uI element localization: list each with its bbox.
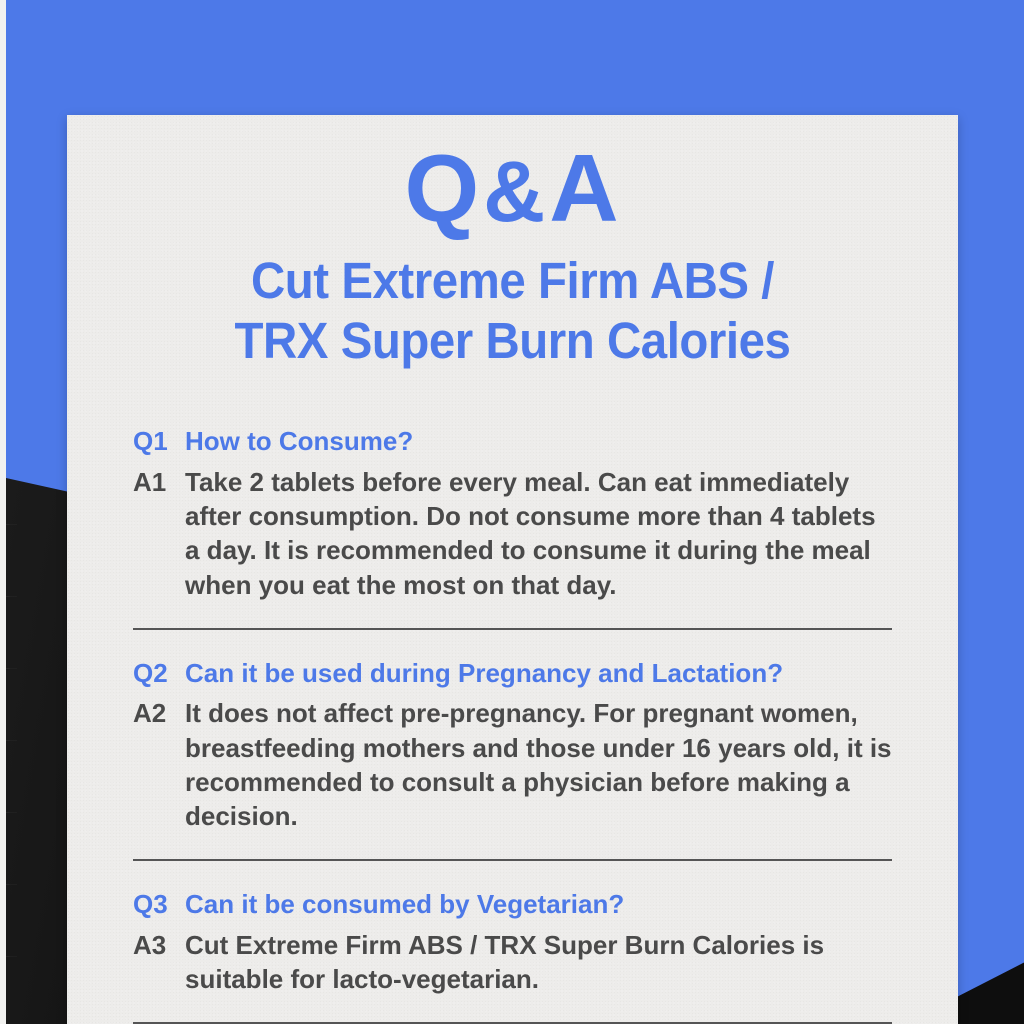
faq-answer-row: A3 Cut Extreme Firm ABS / TRX Super Burn… [133, 928, 892, 997]
product-subtitle: Cut Extreme Firm ABS / TRX Super Burn Ca… [160, 251, 866, 370]
qa-card: Q&A Cut Extreme Firm ABS / TRX Super Bur… [67, 115, 958, 1024]
question-text: Can it be consumed by Vegetarian? [185, 887, 892, 921]
faq-question-row: Q2 Can it be used during Pregnancy and L… [133, 656, 892, 690]
answer-text: Take 2 tablets before every meal. Can ea… [185, 465, 892, 602]
faq-divider [133, 628, 892, 630]
poster-stage: Q&A Cut Extreme Firm ABS / TRX Super Bur… [0, 0, 1024, 1024]
faq-answer-row: A1 Take 2 tablets before every meal. Can… [133, 465, 892, 602]
faq-question-row: Q3 Can it be consumed by Vegetarian? [133, 887, 892, 921]
subtitle-line-1: Cut Extreme Firm ABS / [160, 251, 866, 311]
faq-answer-row: A2 It does not affect pre-pregnancy. For… [133, 696, 892, 833]
title-letter-a: A [549, 135, 620, 242]
question-text: How to Consume? [185, 424, 892, 458]
question-tag: Q1 [133, 424, 185, 458]
answer-tag: A2 [133, 696, 185, 730]
faq-item: Q2 Can it be used during Pregnancy and L… [133, 656, 892, 862]
qa-card-content: Q&A Cut Extreme Firm ABS / TRX Super Bur… [67, 115, 958, 1024]
answer-tag: A1 [133, 465, 185, 499]
page-title: Q&A [133, 115, 892, 237]
question-tag: Q3 [133, 887, 185, 921]
title-letter-q: Q [404, 135, 481, 242]
answer-text: Cut Extreme Firm ABS / TRX Super Burn Ca… [185, 928, 892, 997]
faq-item: Q1 How to Consume? A1 Take 2 tablets bef… [133, 424, 892, 630]
subtitle-line-2: TRX Super Burn Calories [160, 311, 866, 371]
title-ampersand: & [481, 144, 549, 240]
question-tag: Q2 [133, 656, 185, 690]
question-text: Can it be used during Pregnancy and Lact… [185, 656, 892, 690]
faq-list: Q1 How to Consume? A1 Take 2 tablets bef… [133, 424, 892, 1024]
faq-question-row: Q1 How to Consume? [133, 424, 892, 458]
faq-item: Q3 Can it be consumed by Vegetarian? A3 … [133, 887, 892, 1024]
answer-text: It does not affect pre-pregnancy. For pr… [185, 696, 892, 833]
faq-divider [133, 859, 892, 861]
answer-tag: A3 [133, 928, 185, 962]
